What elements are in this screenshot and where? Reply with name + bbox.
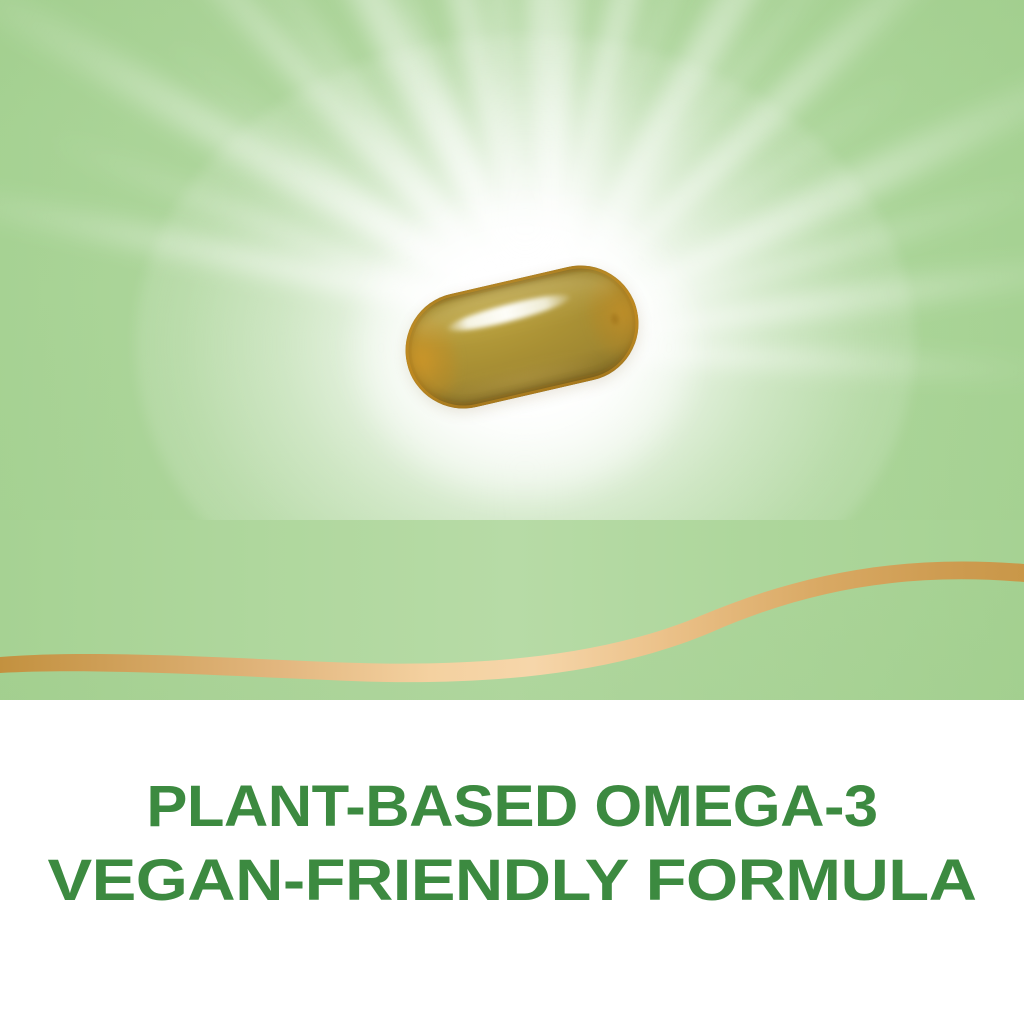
headline-line-1: PLANT-BASED OMEGA-3 <box>0 776 1024 838</box>
headline-block: PLANT-BASED OMEGA-3 VEGAN-FRIENDLY FORMU… <box>0 776 1024 912</box>
product-banner: PLANT-BASED OMEGA-3 VEGAN-FRIENDLY FORMU… <box>0 0 1024 1024</box>
wave-green-body <box>0 520 1024 664</box>
wave-divider-svg <box>0 520 1024 710</box>
headline-line-2: VEGAN-FRIENDLY FORMULA <box>0 850 1024 912</box>
wave-divider <box>0 520 1024 710</box>
